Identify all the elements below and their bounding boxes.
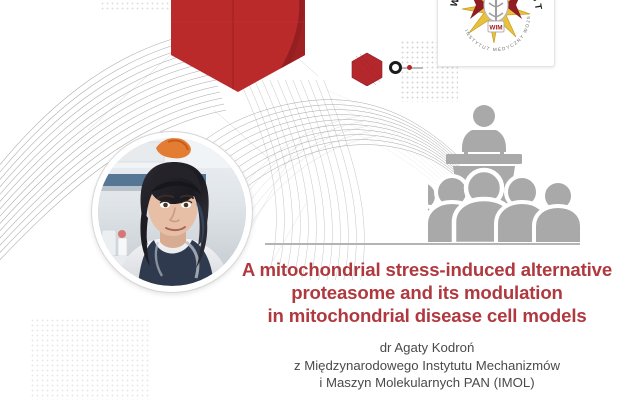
lecture-podium-audience-icon — [428, 104, 584, 244]
poster-text-block: A mitochondrial stress-induced alternati… — [232, 258, 622, 392]
section-divider — [265, 243, 580, 245]
small-red-hexagon-icon — [350, 52, 384, 86]
speaker-portrait-frame — [92, 132, 252, 292]
speaker-portrait-photo — [98, 138, 246, 286]
title-line-2: proteasome and its modulation — [232, 281, 622, 304]
wim-logo-icon: WOJSKOWY INSTYTUT MEDYCZNY INSTYTUT MEDY… — [440, 0, 552, 65]
title-line-3: in mitochondrial disease cell models — [232, 304, 622, 327]
speaker-affiliation-line-1: z Międzynarodowego Instytutu Mechanizmów — [232, 357, 622, 375]
dot-grid-decoration-top — [100, 0, 170, 12]
dot-grid-decoration-bottom — [30, 318, 150, 400]
node-dot-icon — [407, 65, 412, 70]
speaker-affiliation: dr Agaty Kodroń z Międzynarodowego Insty… — [232, 339, 622, 392]
svg-text:WIM: WIM — [489, 24, 502, 31]
speaker-affiliation-line-2: i Maszyn Molekularnych PAN (IMOL) — [232, 374, 622, 392]
node-ring-icon — [389, 61, 402, 74]
institution-logo-card: WOJSKOWY INSTYTUT MEDYCZNY INSTYTUT MEDY… — [437, 0, 555, 67]
speaker-name: dr Agaty Kodroń — [232, 339, 622, 357]
page-title: A mitochondrial stress-induced alternati… — [232, 258, 622, 327]
large-red-hexagon-icon — [163, 0, 313, 92]
title-line-1: A mitochondrial stress-induced alternati… — [232, 258, 622, 281]
seminar-poster: WOJSKOWY INSTYTUT MEDYCZNY INSTYTUT MEDY… — [0, 0, 626, 400]
node-connector-line — [401, 67, 423, 69]
